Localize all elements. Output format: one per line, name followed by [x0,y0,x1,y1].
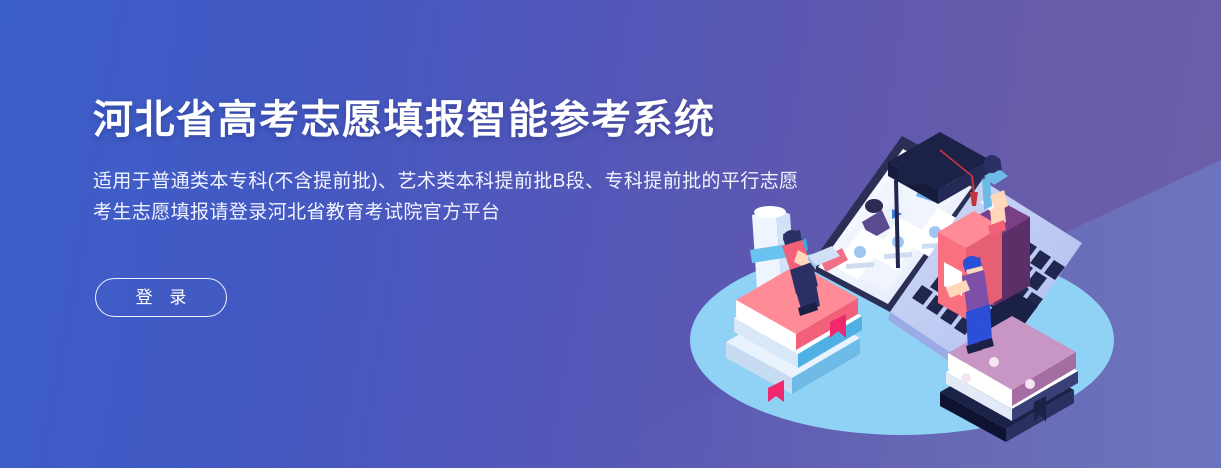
hero-subtitle: 适用于普通类本专科(不含提前批)、艺术类本科提前批B段、专科提前批的平行志愿 考… [93,166,799,228]
subtitle-line-2: 考生志愿填报请登录河北省教育考试院官方平台 [93,197,799,228]
page-title: 河北省高考志愿填报智能参考系统 [93,96,799,144]
hero-copy: 河北省高考志愿填报智能参考系统 适用于普通类本专科(不含提前批)、艺术类本科提前… [93,96,799,228]
login-button[interactable]: 登 录 [95,278,227,317]
hero-banner: 河北省高考志愿填报智能参考系统 适用于普通类本专科(不含提前批)、艺术类本科提前… [0,0,1221,468]
subtitle-line-1: 适用于普通类本专科(不含提前批)、艺术类本科提前批B段、专科提前批的平行志愿 [93,166,799,197]
